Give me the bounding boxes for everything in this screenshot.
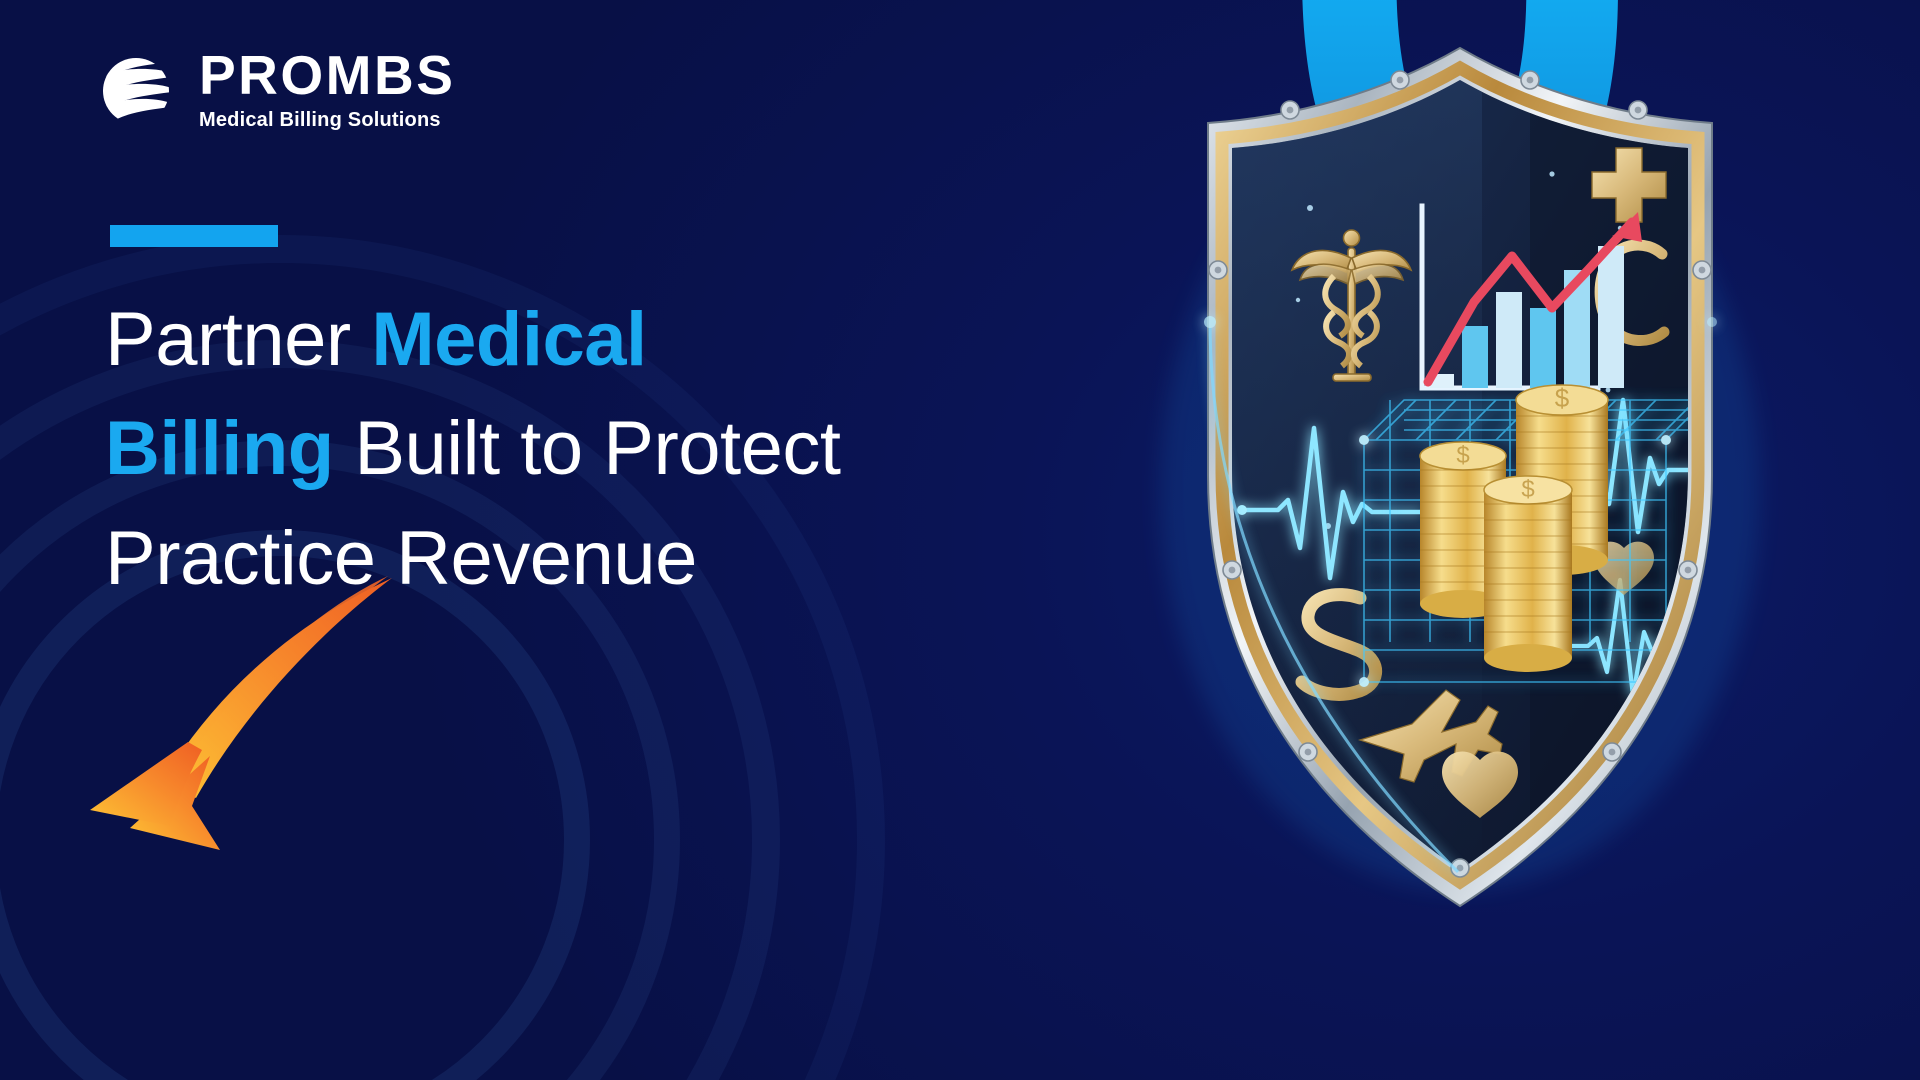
brand-tagline: Medical Billing Solutions	[199, 110, 455, 130]
headline-part-highlight: Medical	[371, 297, 646, 382]
globe-sphere-icon	[95, 48, 177, 130]
svg-text:$: $	[1521, 476, 1534, 503]
curved-down-arrow	[70, 560, 470, 890]
coin-stack-front: $	[1484, 476, 1572, 672]
headline-line-1: Partner Medical	[105, 285, 1025, 394]
brand-name: PROMBS	[199, 48, 455, 103]
headline-line-2: Billing Built to Protect	[105, 394, 1025, 503]
protection-shield-illustration: $ $	[1060, 0, 1860, 1080]
headline-part-plain: Built to Protect	[334, 406, 841, 491]
headline-part-plain: Partner	[105, 297, 371, 382]
banner-canvas: $ $	[0, 0, 1920, 1080]
accent-bar	[110, 225, 278, 247]
svg-text:$: $	[1555, 383, 1570, 413]
svg-text:$: $	[1456, 442, 1469, 469]
brand-logo[interactable]: PROMBS Medical Billing Solutions	[95, 48, 455, 130]
headline-part-highlight: Billing	[105, 406, 334, 491]
